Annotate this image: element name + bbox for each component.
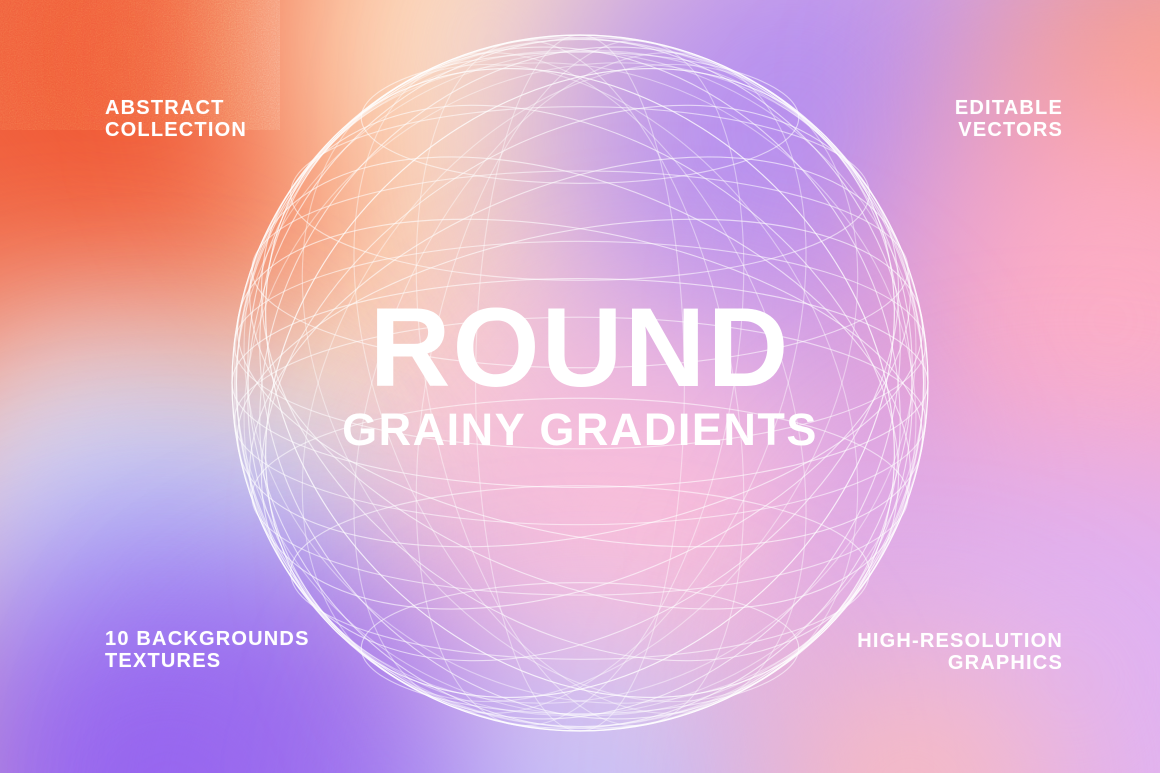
label-abstract-collection: Abstract Collection: [105, 97, 247, 142]
title-block: ROUND Grainy Gradients: [0, 296, 1160, 452]
gradient-blob-orange-right: [940, 0, 1160, 300]
poster-canvas: Abstract Collection Editable Vectors 10 …: [0, 0, 1160, 773]
page-subtitle: Grainy Gradients: [0, 407, 1160, 452]
gradient-blob-purple-bottom: [120, 600, 640, 773]
label-editable-vectors: Editable Vectors: [955, 97, 1063, 142]
label-backgrounds-textures: 10 Backgrounds Textures: [105, 628, 310, 673]
gradient-blob-lilac-bottomright: [760, 430, 1160, 773]
page-title: ROUND: [0, 296, 1160, 399]
label-high-resolution-graphics: High-resolution Graphics: [857, 630, 1063, 675]
gradient-blob-cream-top: [180, 0, 800, 280]
gradient-blob-blue-bottom: [360, 640, 820, 773]
